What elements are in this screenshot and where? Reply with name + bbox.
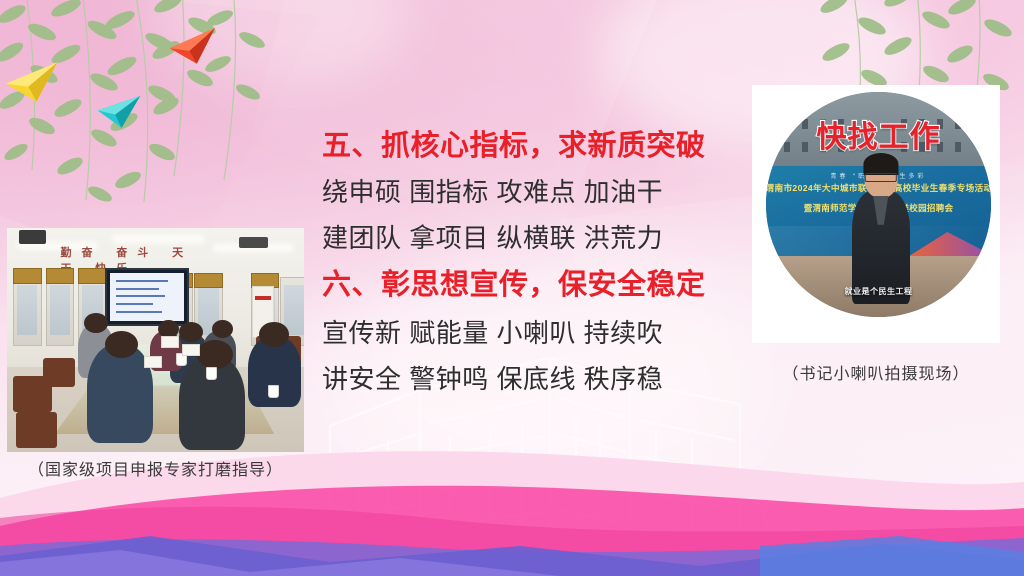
wall-plaque-3 [78, 268, 107, 283]
photo-meeting-room: 勤奋 奋斗 天天 快乐 [7, 228, 304, 452]
person-6-head [197, 340, 233, 369]
bookcase-2 [46, 277, 75, 346]
name-card-3 [161, 336, 179, 348]
cup-3 [268, 385, 279, 398]
content-line-1: 绕申硕 围指标 攻难点 加油干 [322, 179, 742, 205]
presentation-screen [105, 268, 189, 326]
heading-section-six: 六、彰思想宣传，保安全稳定 [322, 271, 742, 300]
chair-3 [43, 358, 76, 387]
wall-plaque-2 [46, 268, 75, 283]
wall-calligraphy: 勤奋 奋斗 天天 快乐 [60, 244, 209, 264]
photo-job-fair: 青春 “职” 有 人生多彩 渭南市2024年大中城市联合招聘高校毕业生春季专场活… [766, 92, 991, 317]
projector-speaker [19, 230, 46, 243]
person-7-head [259, 322, 289, 347]
overlay-title-text: 快找工作 [766, 112, 991, 156]
content-line-4: 讲安全 警钟鸣 保底线 秩序稳 [322, 366, 742, 392]
ceiling-light-2 [114, 237, 203, 241]
content-text-block: 五、抓核心指标，求新质突破 绕申硕 围指标 攻难点 加油干 建团队 拿项目 纵横… [322, 132, 742, 392]
wall-plaque-5 [194, 273, 223, 288]
video-subtitle: 就业是个民生工程 [845, 286, 913, 297]
content-line-3: 宣传新 赋能量 小喇叭 持续吹 [322, 320, 742, 346]
bookcase-1 [13, 277, 42, 346]
name-card-2 [182, 344, 200, 356]
heading-section-five: 五、抓核心指标，求新质突破 [322, 132, 742, 161]
meeting-room-scene: 勤奋 奋斗 天天 快乐 [7, 228, 304, 452]
person-2-head [105, 331, 138, 358]
job-fair-scene: 青春 “职” 有 人生多彩 渭南市2024年大中城市联合招聘高校毕业生春季专场活… [766, 92, 991, 317]
caption-right-photo: （书记小喇叭拍摄现场） [742, 360, 1010, 384]
content-line-2: 建团队 拿项目 纵横联 洪荒力 [322, 225, 742, 251]
caption-left-photo: （国家级项目申报专家打磨指导） [7, 456, 304, 480]
slide-canvas: 勤奋 奋斗 天天 快乐 [0, 0, 1024, 576]
chair-2 [16, 412, 58, 448]
name-card-1 [144, 356, 162, 368]
wall-plaque-1 [13, 268, 42, 283]
ceiling-fan [239, 237, 269, 248]
person-5-head [212, 320, 233, 338]
cup-2 [206, 367, 217, 380]
